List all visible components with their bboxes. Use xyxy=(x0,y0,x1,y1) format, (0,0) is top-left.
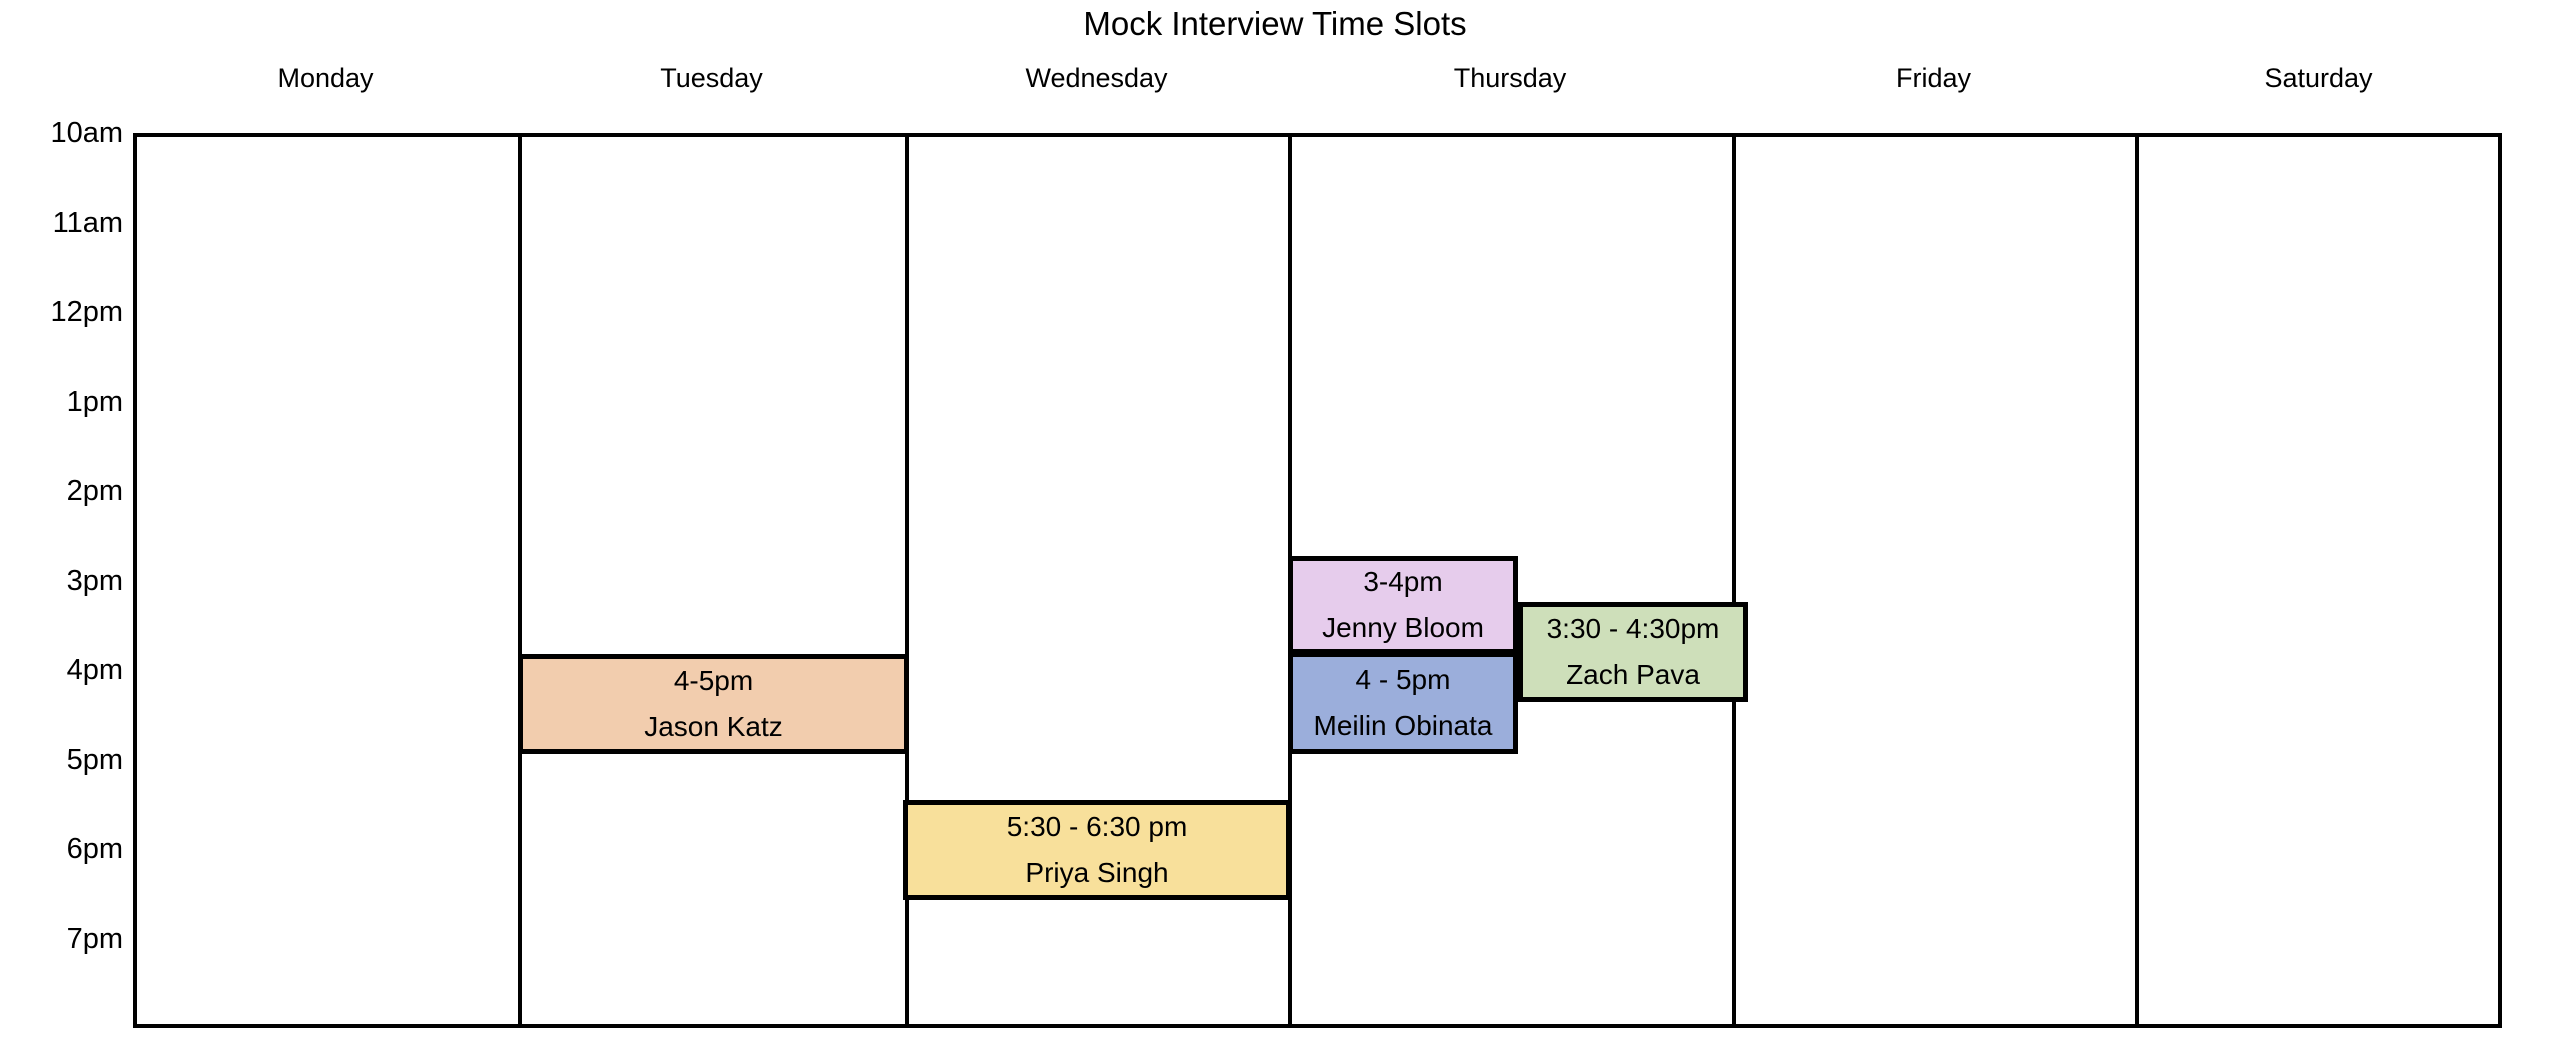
event-block-zach-pava[interactable]: 3:30 - 4:30pm Zach Pava xyxy=(1518,602,1748,702)
event-name: Jenny Bloom xyxy=(1322,611,1484,645)
event-block-jason-katz[interactable]: 4-5pm Jason Katz xyxy=(518,654,909,754)
event-time: 3-4pm xyxy=(1363,565,1442,599)
event-block-priya-singh[interactable]: 5:30 - 6:30 pm Priya Singh xyxy=(903,800,1291,900)
event-time: 4 - 5pm xyxy=(1356,663,1451,697)
event-name: Meilin Obinata xyxy=(1314,709,1493,743)
events-layer: 4-5pm Jason Katz 5:30 - 6:30 pm Priya Si… xyxy=(0,0,2550,1054)
event-time: 5:30 - 6:30 pm xyxy=(1007,810,1188,844)
event-block-jenny-bloom[interactable]: 3-4pm Jenny Bloom xyxy=(1288,556,1518,654)
event-time: 3:30 - 4:30pm xyxy=(1547,612,1720,646)
calendar-canvas: Mock Interview Time Slots Monday Tuesday… xyxy=(0,0,2550,1054)
event-time: 4-5pm xyxy=(674,664,753,698)
event-name: Jason Katz xyxy=(644,710,783,744)
event-name: Priya Singh xyxy=(1025,856,1168,890)
event-block-meilin-obinata[interactable]: 4 - 5pm Meilin Obinata xyxy=(1288,652,1518,754)
event-name: Zach Pava xyxy=(1566,658,1700,692)
